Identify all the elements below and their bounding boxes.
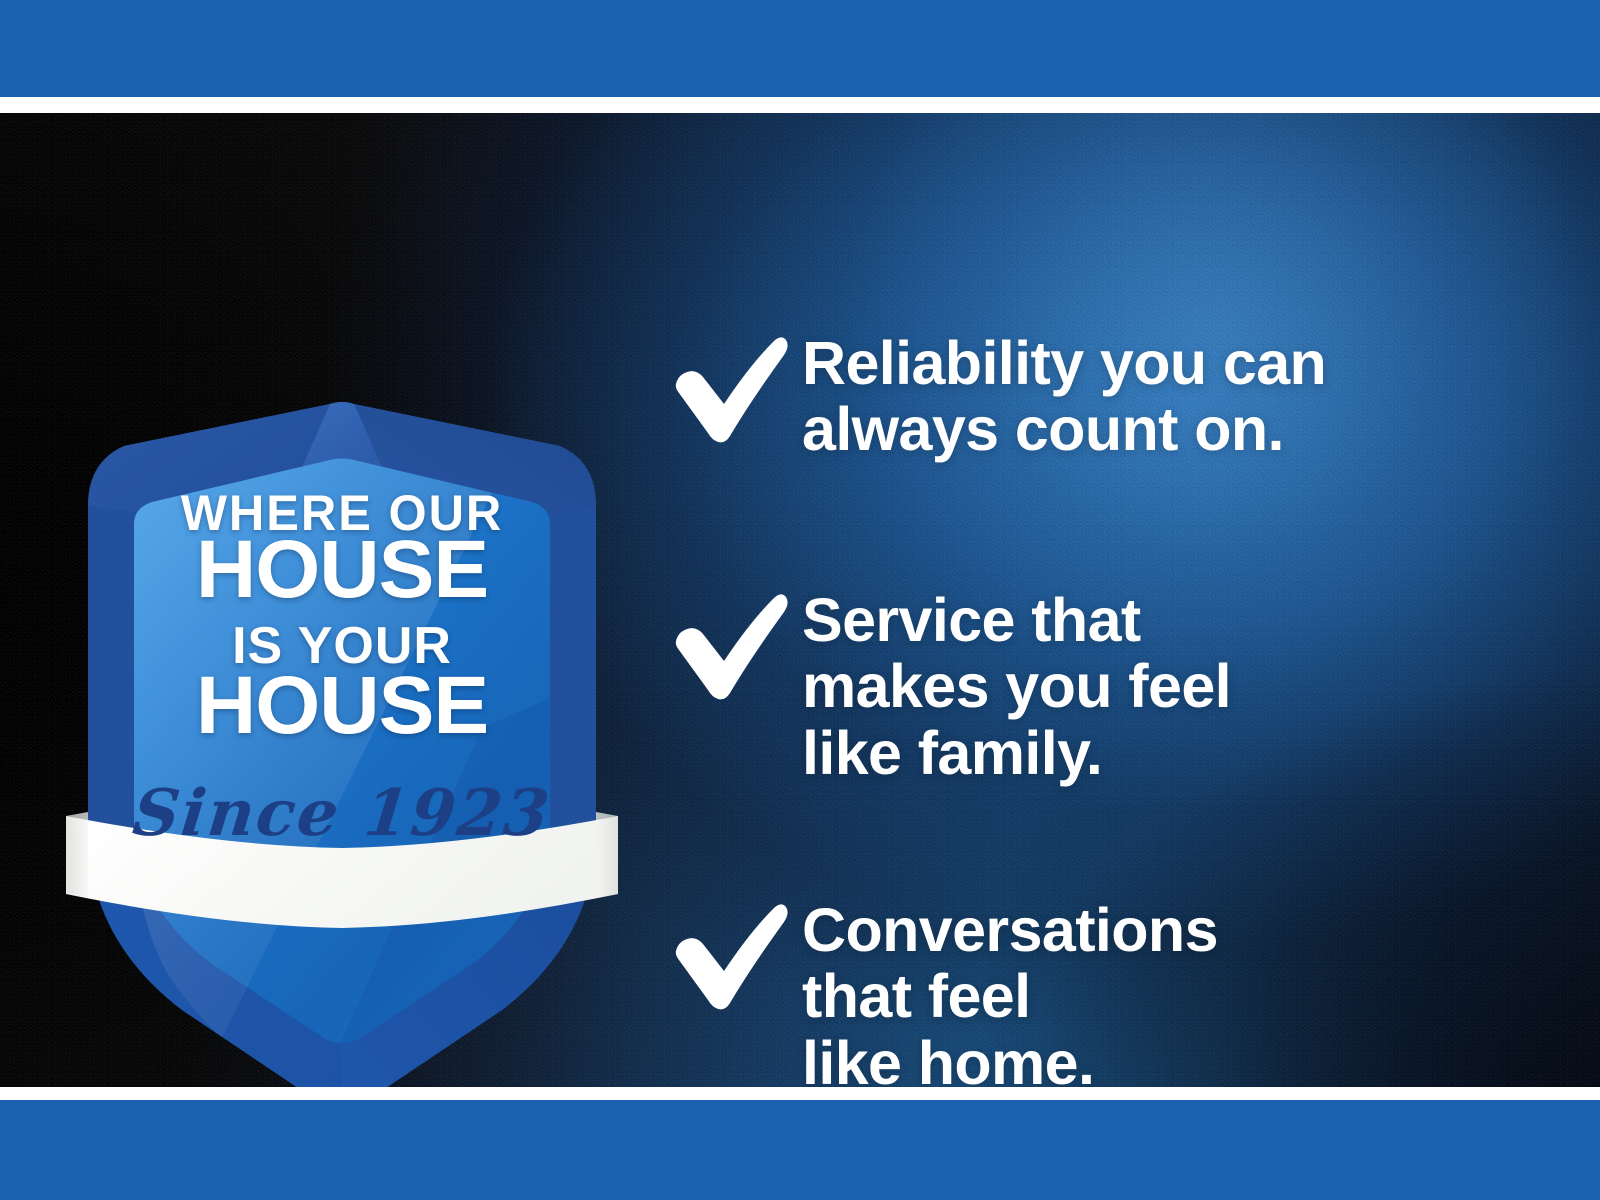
shield-body bbox=[88, 402, 596, 1087]
bullet-2-line-1: Service that bbox=[802, 587, 1231, 653]
bullet-item-2: Service that makes you feel like family. bbox=[672, 583, 1231, 786]
checkmark-icon bbox=[672, 326, 802, 444]
main-stage: Where Our House Is Your House Since 1923… bbox=[0, 113, 1600, 1087]
bullet-text-1: Reliability you can always count on. bbox=[802, 326, 1326, 463]
bullet-3-line-2: that feel bbox=[802, 963, 1218, 1029]
bullet-text-2: Service that makes you feel like family. bbox=[802, 583, 1231, 786]
top-brand-bar bbox=[0, 0, 1600, 97]
bullet-item-3: Conversations that feel like home. bbox=[672, 893, 1218, 1087]
bullet-3-line-1: Conversations bbox=[802, 897, 1218, 963]
bullet-text-3: Conversations that feel like home. bbox=[802, 893, 1218, 1087]
checkmark-icon bbox=[672, 583, 802, 701]
bullet-1-line-2: always count on. bbox=[802, 396, 1326, 462]
bullet-1-line-1: Reliability you can bbox=[802, 330, 1326, 396]
promo-banner: Where Our House Is Your House Since 1923… bbox=[0, 0, 1600, 1200]
bottom-brand-bar bbox=[0, 1100, 1600, 1200]
bullet-2-line-3: like family. bbox=[802, 720, 1231, 786]
bullet-item-1: Reliability you can always count on. bbox=[672, 326, 1326, 463]
bullet-3-line-3: like home. bbox=[802, 1030, 1218, 1087]
company-shield-logo: Where Our House Is Your House Since 1923 bbox=[62, 398, 622, 1058]
bullet-2-line-2: makes you feel bbox=[802, 653, 1231, 719]
checkmark-icon bbox=[672, 893, 802, 1011]
